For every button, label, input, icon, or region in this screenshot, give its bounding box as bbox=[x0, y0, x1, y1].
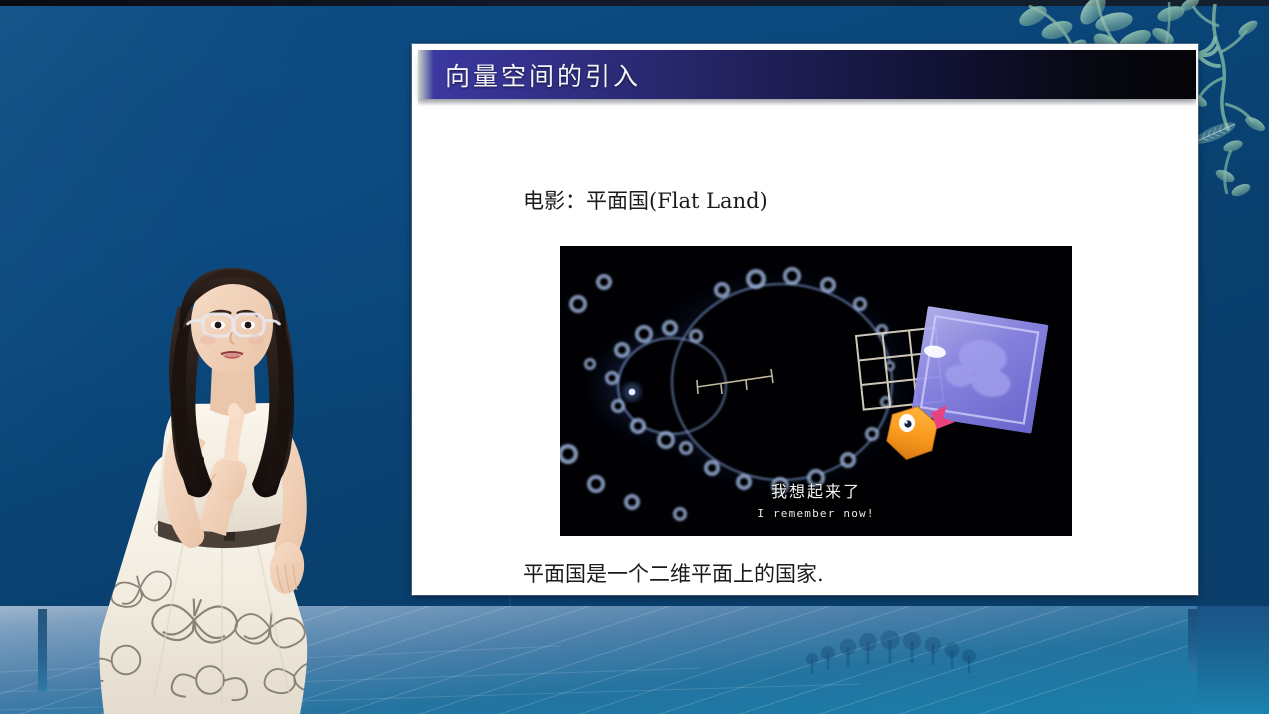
presenter-figure bbox=[82, 228, 378, 714]
panel-accent-left bbox=[38, 609, 47, 691]
page-title: 向量空间的引入 bbox=[418, 57, 641, 93]
embedded-video-still[interactable]: 我想起来了 I remember now! bbox=[560, 246, 1072, 536]
video-subtitle-english: I remember now! bbox=[560, 507, 1072, 520]
movie-label: 电影：平面国(Flat Land) bbox=[523, 185, 768, 215]
panel-edge-right bbox=[1197, 606, 1269, 714]
panel-accent-right bbox=[1188, 609, 1197, 671]
slide-body: 电影：平面国(Flat Land) bbox=[415, 103, 1195, 595]
presenter-illustration bbox=[82, 228, 378, 714]
video-subtitle-chinese: 我想起来了 bbox=[560, 478, 1072, 502]
slide-title-bar: 向量空间的引入 bbox=[418, 50, 1196, 99]
lecture-video-frame: 向量空间的引入 电影：平面国(Flat Land) bbox=[0, 0, 1269, 714]
slide-body-line-1: 平面国是一个二维平面上的国家. bbox=[523, 558, 824, 588]
presentation-slide: 向量空间的引入 电影：平面国(Flat Land) bbox=[412, 44, 1198, 595]
